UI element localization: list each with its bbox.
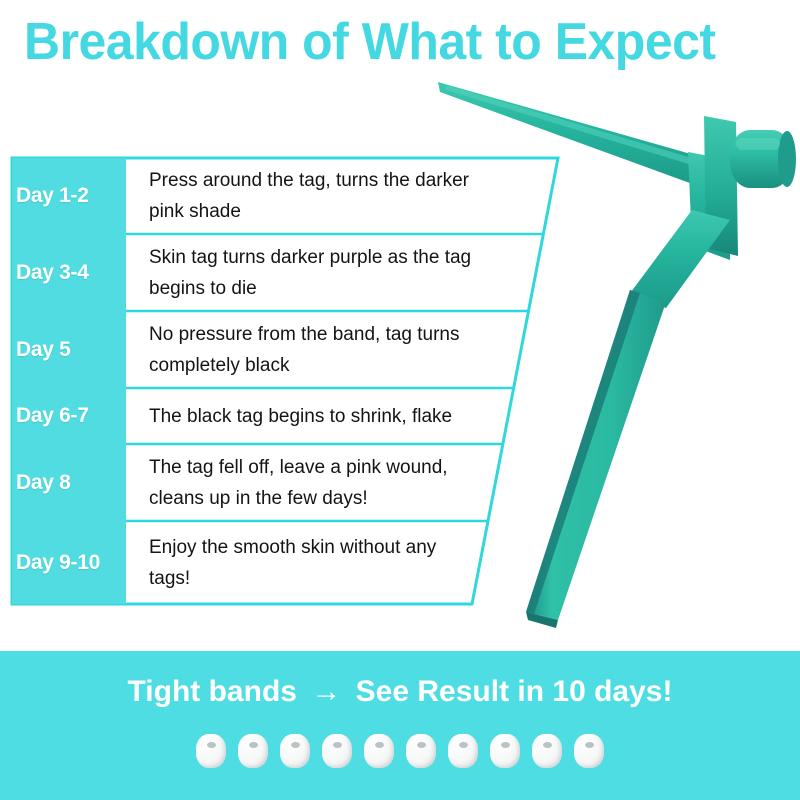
day-cell: Day 6-7	[10, 388, 123, 444]
description-cell: No pressure from the band, tag turns com…	[123, 311, 562, 388]
description-line: begins to die	[149, 273, 504, 304]
band-item	[490, 734, 520, 768]
day-label: Day 3-4	[16, 261, 89, 285]
day-cell: Day 3-4	[10, 234, 123, 311]
barrel-end-cap	[778, 131, 796, 187]
band-item	[448, 734, 478, 768]
table-row: Day 8 The tag fell off, leave a pink wou…	[10, 444, 562, 521]
band-item	[406, 734, 436, 768]
band-item	[238, 734, 268, 768]
description-line: No pressure from the band, tag turns	[149, 319, 504, 350]
day-label: Day 1-2	[16, 184, 89, 208]
band-hole-icon	[375, 742, 384, 748]
infographic-page: Breakdown of What to Expect	[0, 0, 800, 800]
barrel-highlight	[736, 138, 780, 150]
description-line: tags!	[149, 563, 504, 594]
expectation-schedule-table: Day 1-2 Press around the tag, turns the …	[10, 156, 562, 606]
description-cell: The black tag begins to shrink, flake	[123, 388, 562, 444]
day-cell: Day 9-10	[10, 521, 123, 604]
needle-highlight	[446, 85, 695, 166]
description-line: Press around the tag, turns the darker	[149, 165, 504, 196]
day-cell: Day 5	[10, 311, 123, 388]
band-item	[322, 734, 352, 768]
banner-headline: Tight bands → See Result in 10 days!	[0, 672, 800, 712]
band-hole-icon	[543, 742, 552, 748]
table-row: Day 3-4 Skin tag turns darker purple as …	[10, 234, 562, 311]
band-hole-icon	[207, 742, 216, 748]
description-line: The black tag begins to shrink, flake	[149, 401, 504, 432]
band-strip	[0, 728, 800, 774]
day-label: Day 5	[16, 338, 71, 362]
band-hole-icon	[417, 742, 426, 748]
table-row: Day 9-10 Enjoy the smooth skin without a…	[10, 521, 562, 604]
banner-trail-text: See Result in 10 days!	[356, 675, 673, 708]
description-cell: Press around the tag, turns the darker p…	[123, 158, 562, 234]
arrow-right-icon: →	[305, 672, 347, 712]
description-cell: Skin tag turns darker purple as the tag …	[123, 234, 562, 311]
band-hole-icon	[459, 742, 468, 748]
description-cell: The tag fell off, leave a pink wound, cl…	[123, 444, 562, 521]
description-line: Skin tag turns darker purple as the tag	[149, 242, 504, 273]
applicator-elbow	[628, 210, 730, 308]
band-hole-icon	[291, 742, 300, 748]
band-item	[532, 734, 562, 768]
table-row: Day 6-7 The black tag begins to shrink, …	[10, 388, 562, 444]
description-line: pink shade	[149, 196, 504, 227]
schedule-row-list: Day 1-2 Press around the tag, turns the …	[10, 156, 562, 606]
band-hole-icon	[585, 742, 594, 748]
day-cell: Day 8	[10, 444, 123, 521]
description-line: Enjoy the smooth skin without any	[149, 532, 504, 563]
banner-lead-text: Tight bands	[128, 675, 297, 708]
description-line: cleans up in the few days!	[149, 483, 504, 514]
description-line: The tag fell off, leave a pink wound,	[149, 452, 504, 483]
table-row: Day 1-2 Press around the tag, turns the …	[10, 158, 562, 234]
band-hole-icon	[501, 742, 510, 748]
day-label: Day 9-10	[16, 551, 100, 575]
band-item	[574, 734, 604, 768]
band-hole-icon	[249, 742, 258, 748]
band-item	[196, 734, 226, 768]
band-item	[364, 734, 394, 768]
band-item	[280, 734, 310, 768]
band-hole-icon	[333, 742, 342, 748]
day-cell: Day 1-2	[10, 158, 123, 234]
bottom-banner: Tight bands → See Result in 10 days!	[0, 651, 800, 800]
description-line: completely black	[149, 350, 504, 381]
table-row: Day 5 No pressure from the band, tag tur…	[10, 311, 562, 388]
description-cell: Enjoy the smooth skin without any tags!	[123, 521, 562, 604]
day-label: Day 8	[16, 471, 71, 495]
day-label: Day 6-7	[16, 404, 89, 428]
